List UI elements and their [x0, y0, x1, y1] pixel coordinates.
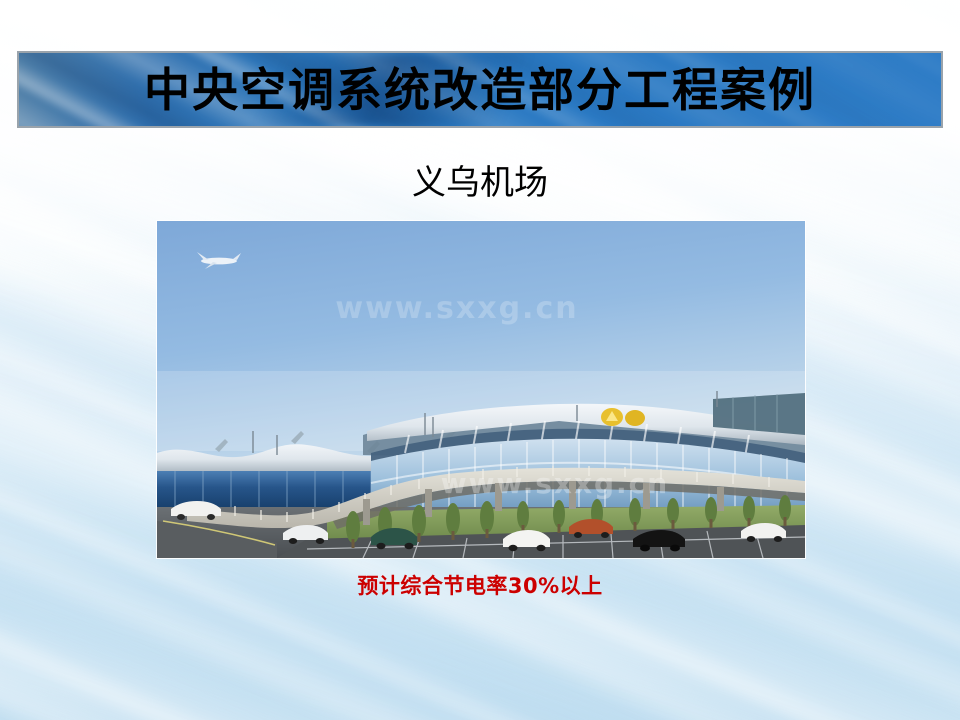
- photo-frame: www.sxxg.cn: [157, 221, 805, 558]
- slide-subtitle: 义乌机场: [0, 163, 960, 204]
- page-title: 中央空调系统改造部分工程案例: [144, 67, 816, 113]
- photo-watermark-top: www.sxxg.cn: [335, 291, 578, 326]
- title-banner: 中央空调系统改造部分工程案例: [17, 51, 943, 128]
- airport-photo: www.sxxg.cn: [157, 221, 805, 558]
- airport-illustration: www.sxxg.cn: [157, 221, 805, 558]
- slide-canvas: 中央空调系统改造部分工程案例 义乌机场: [0, 0, 960, 720]
- photo-watermark-bottom: www.sxxg.cn: [441, 467, 669, 500]
- savings-caption: 预计综合节电率30%以上: [0, 574, 960, 599]
